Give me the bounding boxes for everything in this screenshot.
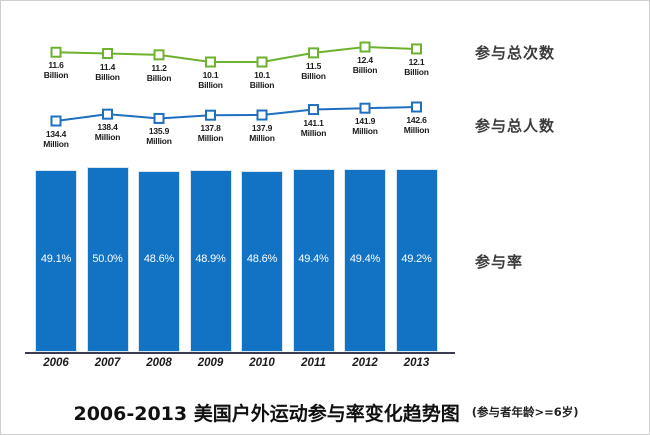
data-point-marker <box>52 117 61 126</box>
bar-value-label: 50.0% <box>87 253 129 265</box>
data-point-marker <box>412 44 421 53</box>
data-point-label: 11.4 Billion <box>80 62 136 82</box>
data-point-marker <box>309 105 318 114</box>
data-point-label: 10.1 Billion <box>234 70 290 90</box>
data-point-marker <box>155 50 164 59</box>
data-point-marker <box>258 58 267 67</box>
bar-value-label: 49.4% <box>293 253 335 265</box>
legend-item-total-participants: 参与总人数 <box>475 115 555 136</box>
data-point-label: 142.6 Million <box>389 115 445 135</box>
bar-value-label: 49.1% <box>35 253 77 265</box>
data-point-marker <box>361 104 370 113</box>
data-point-marker <box>52 48 61 57</box>
x-tick-label: 2007 <box>83 357 133 369</box>
data-point-marker <box>309 48 318 57</box>
x-tick-label: 2008 <box>134 357 184 369</box>
x-tick-label: 2010 <box>237 357 287 369</box>
bar-value-label: 48.6% <box>138 253 180 265</box>
data-point-marker <box>258 111 267 120</box>
data-point-marker <box>206 58 215 67</box>
chart-footer: 2006-2013 美国户外运动参与率变化趋势图 (参与者年龄>=6岁) <box>1 389 650 435</box>
data-point-label: 11.2 Billion <box>131 63 187 83</box>
x-tick-label: 2012 <box>340 357 390 369</box>
data-point-label: 12.4 Billion <box>337 55 393 75</box>
x-tick-label: 2011 <box>289 357 339 369</box>
chart-page: 11.6 Billion11.4 Billion11.2 Billion10.1… <box>0 0 650 435</box>
data-point-label: 10.1 Billion <box>183 70 239 90</box>
data-point-label: 137.8 Million <box>183 123 239 143</box>
data-point-marker <box>103 110 112 119</box>
chart-subtitle: (参与者年龄>=6岁) <box>472 404 579 422</box>
x-axis-line <box>25 352 455 354</box>
data-point-label: 135.9 Million <box>131 126 187 146</box>
x-tick-label: 2013 <box>392 357 442 369</box>
chart-title: 2006-2013 美国户外运动参与率变化趋势图 <box>73 399 459 426</box>
data-point-marker <box>155 114 164 123</box>
data-point-label: 134.4 Million <box>28 129 84 149</box>
plot-area: 11.6 Billion11.4 Billion11.2 Billion10.1… <box>1 1 471 386</box>
legend-item-total-outings: 参与总次数 <box>475 42 555 63</box>
data-point-label: 11.5 Billion <box>286 61 342 81</box>
data-point-label: 12.1 Billion <box>389 57 445 77</box>
data-point-marker <box>206 111 215 120</box>
bar-value-label: 48.6% <box>241 253 283 265</box>
bar-value-label: 49.4% <box>344 253 386 265</box>
bar-value-label: 48.9% <box>190 253 232 265</box>
data-point-marker <box>103 49 112 58</box>
data-point-label: 138.4 Million <box>80 122 136 142</box>
data-point-marker <box>361 43 370 52</box>
data-point-label: 141.1 Million <box>286 118 342 138</box>
bar-value-label: 49.2% <box>396 253 438 265</box>
data-point-label: 137.9 Million <box>234 123 290 143</box>
data-point-label: 11.6 Billion <box>28 60 84 80</box>
x-tick-label: 2006 <box>31 357 81 369</box>
data-point-label: 141.9 Million <box>337 116 393 136</box>
x-tick-label: 2009 <box>186 357 236 369</box>
data-point-marker <box>412 103 421 112</box>
legend-item-participation-rate: 参与率 <box>475 251 523 272</box>
